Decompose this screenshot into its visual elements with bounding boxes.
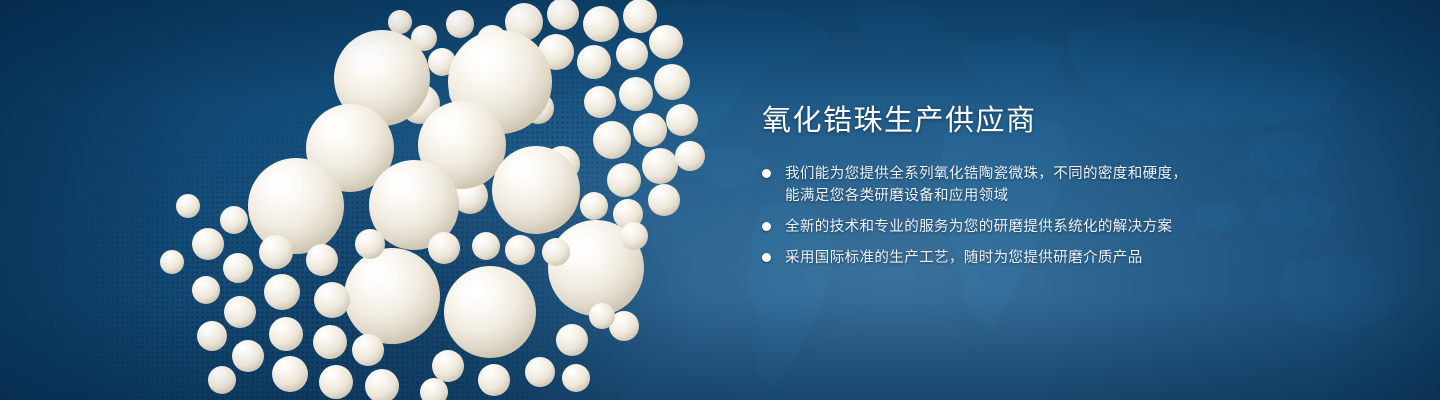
feature-line-1: 采用国际标准的生产工艺，随时为您提供研磨介质产品 <box>785 250 1143 266</box>
feature-line-1: 我们能为您提供全系列氧化锆陶瓷微珠，不同的密度和硬度， <box>785 166 1187 182</box>
feature-text: 全新的技术和专业的服务为您的研磨提供系统化的解决方案 <box>785 216 1172 238</box>
feature-line-1: 全新的技术和专业的服务为您的研磨提供系统化的解决方案 <box>785 219 1172 235</box>
banner-copy: 氧化锆珠生产供应商 我们能为您提供全系列氧化锆陶瓷微珠，不同的密度和硬度， 能满… <box>762 104 1232 278</box>
page-title: 氧化锆珠生产供应商 <box>762 104 1232 138</box>
list-item: 全新的技术和专业的服务为您的研磨提供系统化的解决方案 <box>762 216 1232 238</box>
list-item: 我们能为您提供全系列氧化锆陶瓷微珠，不同的密度和硬度， 能满足您各类研磨设备和应… <box>762 163 1232 207</box>
feature-text: 采用国际标准的生产工艺，随时为您提供研磨介质产品 <box>785 247 1143 269</box>
bullet-dot-icon <box>762 169 771 178</box>
feature-text: 我们能为您提供全系列氧化锆陶瓷微珠，不同的密度和硬度， 能满足您各类研磨设备和应… <box>785 163 1187 207</box>
list-item: 采用国际标准的生产工艺，随时为您提供研磨介质产品 <box>762 247 1232 269</box>
bullet-dot-icon <box>762 253 771 262</box>
feature-line-2: 能满足您各类研磨设备和应用领域 <box>785 185 1187 207</box>
bullet-dot-icon <box>762 222 771 231</box>
hero-banner: 氧化锆珠生产供应商 我们能为您提供全系列氧化锆陶瓷微珠，不同的密度和硬度， 能满… <box>0 0 1440 400</box>
feature-list: 我们能为您提供全系列氧化锆陶瓷微珠，不同的密度和硬度， 能满足您各类研磨设备和应… <box>762 163 1232 269</box>
